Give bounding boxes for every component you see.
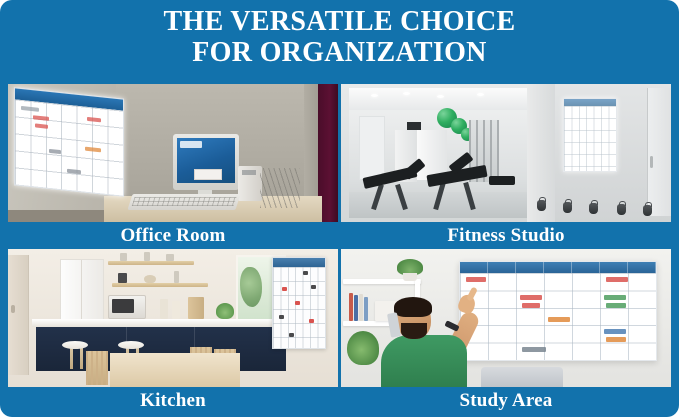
office-monitor-sticker [194,169,222,180]
study-person-body [381,335,467,387]
calendar-day-header [544,262,572,273]
gym-ceiling-light [477,93,484,96]
gym-kettlebell [643,205,652,216]
study-fern [347,331,379,365]
kitchen-window-greenery [240,267,262,307]
kitchen-wall-shelf [112,283,208,287]
study-plant-pot [403,273,417,281]
kitchen-stool-leg [80,347,83,369]
study-book [354,295,358,321]
panel-caption-kitchen: Kitchen [8,387,338,414]
study-book [364,297,368,321]
gym-door-handle [650,156,653,168]
calendar-note [311,285,316,289]
calendar-month-label [21,106,39,112]
kitchen-wall-calendar [272,257,326,349]
panel-grid: Office Room [8,84,671,409]
gym-bench-pad [489,176,515,185]
office-keyboard [127,194,240,210]
kitchen-cutting-boards [188,297,204,319]
kitchen-shelf-item [166,254,174,261]
kitchen-refrigerator [60,259,104,323]
calendar-note [279,315,284,319]
kitchen-dining-table [110,353,240,387]
kitchen-door [8,255,29,375]
kitchen-countertop [32,319,288,327]
panel-kitchen: Kitchen [8,249,338,414]
title-line-2: FOR ORGANIZATION [0,37,679,68]
kitchen-door-handle [11,305,15,313]
calendar-note [522,347,546,352]
calendar-date-grid [273,267,325,348]
gym-kettlebell [563,202,572,213]
calendar-note [606,303,626,308]
calendar-day-header [516,262,544,273]
gym-ceiling-light [403,92,410,95]
panel-caption-fitness-studio: Fitness Studio [341,222,671,249]
kitchen-microwave [108,295,146,319]
calendar-header-band [460,262,656,273]
calendar-day-header [460,262,488,273]
office-tower-logo [242,170,256,175]
kitchen-wall-shelf [108,261,194,265]
gym-ceiling [349,88,527,110]
calendar-note [548,317,570,322]
calendar-note [466,277,486,282]
calendar-header-band [273,258,325,267]
kitchen-stool [62,341,88,349]
office-wall-calendar [14,87,124,197]
kitchen-chair [86,351,108,385]
calendar-note [282,287,287,291]
kitchen-shelf-item [144,252,150,261]
kitchen-shelf-item [118,273,127,283]
calendar-note [606,277,628,282]
photo-kitchen [8,249,338,387]
calendar-note [49,149,61,154]
page-title: THE VERSATILE CHOICE FOR ORGANIZATION [0,6,679,68]
kitchen-shelf-item [120,253,127,261]
panel-study-area: Study Area [341,249,671,414]
calendar-day-header [600,262,628,273]
gym-door [647,88,671,216]
gym-ceiling-light [437,95,444,98]
calendar-note [520,295,542,300]
panel-office-room: Office Room [8,84,338,249]
study-laptop [481,367,563,387]
photo-fitness-studio [341,84,671,222]
study-book [349,293,353,321]
study-person-hair [394,297,432,317]
study-person-beard [401,323,427,339]
calendar-note [522,303,540,308]
calendar-note [295,301,300,305]
kitchen-shelf-bowl [144,275,156,283]
study-book [359,294,363,321]
gym-ceiling-light [371,94,378,97]
calendar-note [604,329,626,334]
photo-study-area [341,249,671,387]
calendar-date-grid [460,273,656,360]
calendar-note [604,295,626,300]
kitchen-shelf-item [174,271,179,283]
calendar-date-grid [564,106,616,171]
infographic-root: THE VERSATILE CHOICE FOR ORGANIZATION [0,0,679,417]
kitchen-canister [172,301,180,319]
panel-caption-office-room: Office Room [8,222,338,249]
kitchen-canister [160,299,168,319]
kitchen-plant [216,303,234,319]
panel-caption-study-area: Study Area [341,387,671,414]
calendar-note [309,319,314,323]
photo-office-room [8,84,338,222]
calendar-note [303,271,308,275]
calendar-note [33,115,49,121]
gym-kettlebell [617,204,626,215]
office-monitor-logo [180,141,202,148]
gym-kettlebell [589,203,598,214]
calendar-date-grid [15,99,123,195]
gym-wall-calendar [563,98,617,172]
panel-fitness-studio: Fitness Studio [341,84,671,249]
study-wall-calendar [459,261,657,361]
kitchen-stool-leg [70,347,73,369]
calendar-note [87,117,101,122]
gym-kettlebell [537,200,546,211]
calendar-note [35,123,48,128]
calendar-note [606,337,626,342]
calendar-day-header [572,262,600,273]
office-floor [8,210,118,222]
calendar-header-band [564,99,616,106]
gym-doorway [359,116,385,180]
calendar-day-header [488,262,516,273]
title-line-1: THE VERSATILE CHOICE [0,6,679,37]
calendar-note [67,169,81,174]
calendar-note [85,147,101,153]
office-cables [260,168,300,208]
kitchen-stool [118,341,144,349]
calendar-note [289,333,294,337]
calendar-day-header [628,262,656,273]
